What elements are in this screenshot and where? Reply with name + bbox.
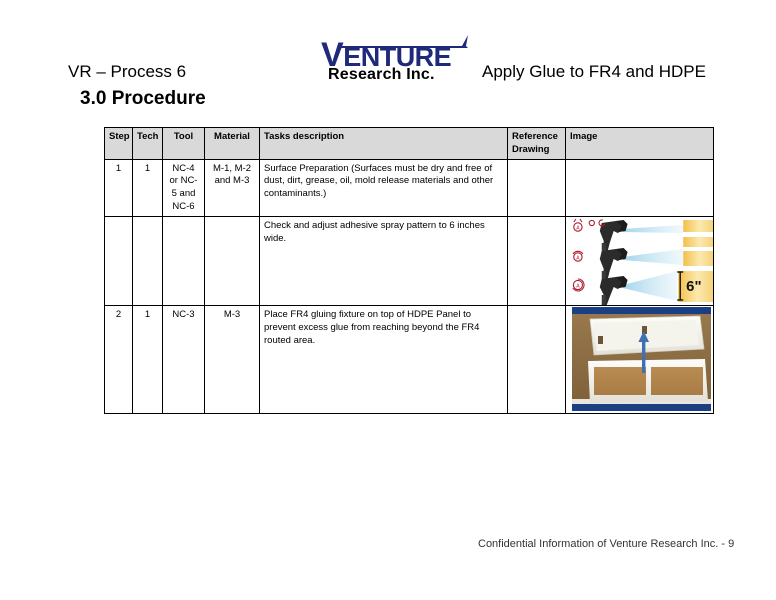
cell-tool — [163, 216, 205, 305]
column-header-material: Material — [205, 128, 260, 160]
cell-image-panel-photo — [566, 305, 714, 413]
logo-secondary-text: Research Inc. — [328, 66, 435, 84]
footer-confidentiality-note: Confidential Information of Venture Rese… — [478, 538, 734, 550]
cell-tasks: Check and adjust adhesive spray pattern … — [260, 216, 508, 305]
document-subject: Apply Glue to FR4 and HDPE — [482, 62, 706, 82]
column-header-tech: Tech — [133, 128, 163, 160]
table-row: 2 1 NC-3 M-3 Place FR4 gluing fixture on… — [105, 305, 714, 413]
cell-tech: 1 — [133, 305, 163, 413]
column-header-tasks: Tasks description — [260, 128, 508, 160]
table-header-row: Step Tech Tool Material Tasks descriptio… — [105, 128, 714, 160]
cell-tech — [133, 216, 163, 305]
cell-reference-drawing — [508, 216, 566, 305]
cell-material: M-3 — [205, 305, 260, 413]
column-header-step: Step — [105, 128, 133, 160]
cell-tasks: Place FR4 gluing fixture on top of HDPE … — [260, 305, 508, 413]
cell-tasks: Surface Preparation (Surfaces must be dr… — [260, 159, 508, 216]
column-header-image: Image — [566, 128, 714, 160]
column-header-reference-drawing: Reference Drawing — [508, 128, 566, 160]
table-row: 1 1 NC-4 or NC-5 and NC-6 M-1, M-2 and M… — [105, 159, 714, 216]
spray-pattern-diagram-icon: A A — [566, 217, 713, 305]
procedure-table: Step Tech Tool Material Tasks descriptio… — [104, 127, 714, 414]
cell-tool: NC-3 — [163, 305, 205, 413]
page-title: 3.0 Procedure — [80, 88, 206, 110]
cell-reference-drawing — [508, 305, 566, 413]
document-kicker: VR – Process 6 — [68, 62, 186, 82]
cell-material: M-1, M-2 and M-3 — [205, 159, 260, 216]
table-row: Check and adjust adhesive spray pattern … — [105, 216, 714, 305]
cell-image — [566, 159, 714, 216]
cell-image-spray-pattern: A A — [566, 216, 714, 305]
cell-material — [205, 216, 260, 305]
cell-step — [105, 216, 133, 305]
hdpe-panel-fixture-photo-icon — [572, 307, 711, 411]
company-logo: VENTURE Research Inc. — [318, 30, 468, 80]
cell-step: 2 — [105, 305, 133, 413]
cell-step: 1 — [105, 159, 133, 216]
cell-tech: 1 — [133, 159, 163, 216]
cell-tool: NC-4 or NC-5 and NC-6 — [163, 159, 205, 216]
column-header-tool: Tool — [163, 128, 205, 160]
spray-width-label: 6" — [686, 278, 701, 295]
cell-reference-drawing — [508, 159, 566, 216]
